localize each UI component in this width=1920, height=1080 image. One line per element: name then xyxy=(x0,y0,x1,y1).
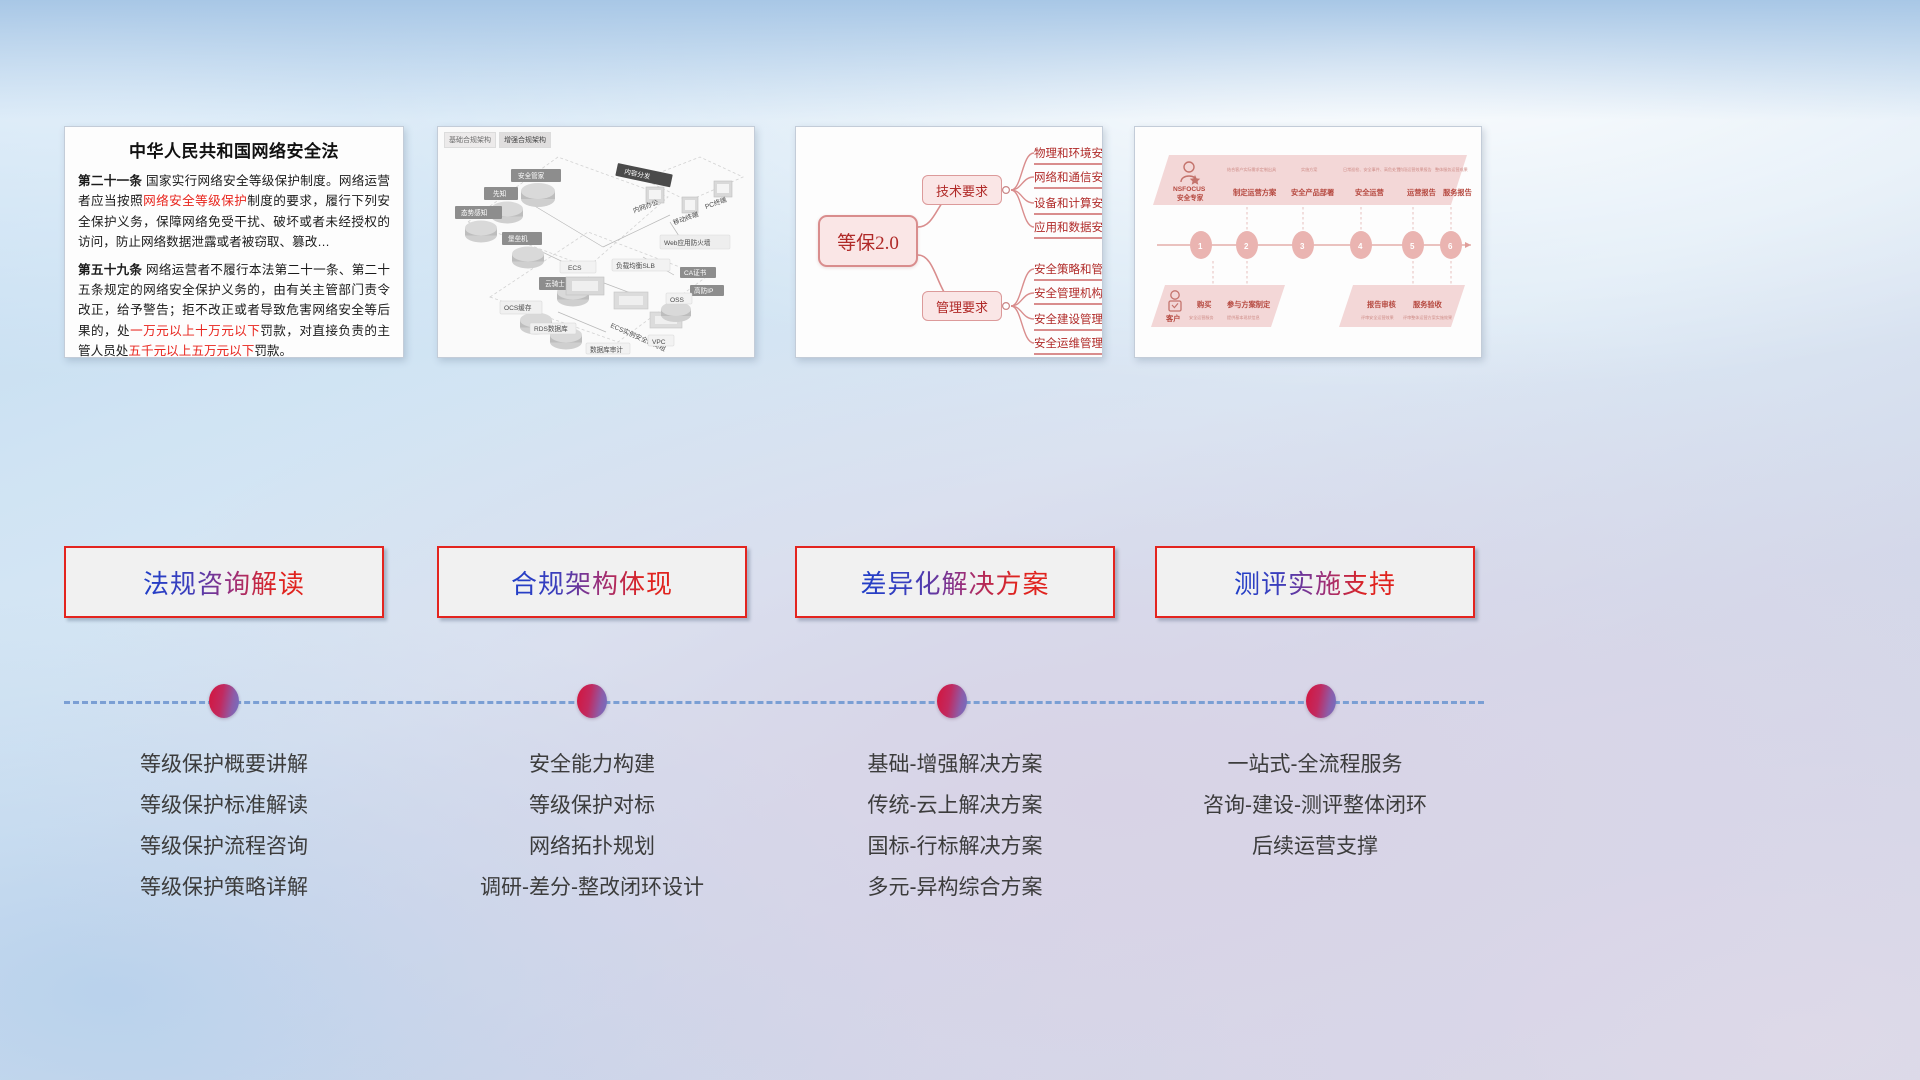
mindmap-leaf-physical-env: 物理和环境安全 xyxy=(1034,145,1103,165)
svg-text:安全管家: 安全管家 xyxy=(518,171,545,180)
bottom-right-step-2-sub: 评审整体运营方案实施效果 xyxy=(1403,314,1452,320)
top-step-4-sub: 阶段运营效果报告 xyxy=(1399,166,1432,172)
node-oss: OSS xyxy=(661,293,692,322)
node-situational-awareness: 态势感知 xyxy=(455,206,502,243)
list-item: 调研-差分-整改闭环设计 xyxy=(437,867,747,908)
card-compliance-architecture[interactable]: 基础合规架构 增强合规架构 内容分发 xyxy=(437,126,755,358)
svg-text:OCS缓存: OCS缓存 xyxy=(504,303,532,312)
article-59-highlight-b: 五千元以上五万元以下 xyxy=(128,344,254,358)
mindmap: 等保2.0 技术要求 管理要求 物理和环境安全 网络和通信安全 设备和计算安全 … xyxy=(796,127,1102,357)
svg-text:云骑士: 云骑士 xyxy=(545,279,565,288)
top-step-3-sub: 日常巡检、安全事件、高危处置 xyxy=(1343,166,1400,172)
node-pc-terminal: PC终端 xyxy=(704,181,732,211)
top-step-1-title: 制定运营方案 xyxy=(1233,188,1277,197)
node-bastion-host: 堡垒机 xyxy=(502,232,544,269)
background-top-wash xyxy=(0,0,1920,120)
nsfocus-timeline: NSFOCUS 安全专家 结合客户实际需求定制出具 制定运营方案 实施方案 安全… xyxy=(1135,127,1481,357)
detail-list-differentiated-solution: 基础-增强解决方案 传统-云上解决方案 国标-行标解决方案 多元-异构综合方案 xyxy=(795,744,1115,909)
svg-text:态势感知: 态势感知 xyxy=(461,208,487,217)
top-step-2-sub: 实施方案 xyxy=(1301,166,1317,172)
svg-text:ECS: ECS xyxy=(568,265,582,272)
list-item: 传统-云上解决方案 xyxy=(795,785,1115,826)
timeline-connector xyxy=(64,684,1484,720)
list-item: 等级保护标准解读 xyxy=(64,785,384,826)
card-nsfocus-service-timeline[interactable]: NSFOCUS 安全专家 结合客户实际需求定制出具 制定运营方案 实施方案 安全… xyxy=(1134,126,1482,358)
list-item: 咨询-建设-测评整体闭环 xyxy=(1155,785,1475,826)
article-59-text-c: 罚款。 xyxy=(254,344,292,358)
list-item: 国标-行标解决方案 xyxy=(795,826,1115,867)
timeline-dot-4[interactable] xyxy=(1306,684,1336,718)
mindmap-branch-technical[interactable]: 技术要求 xyxy=(922,175,1002,205)
list-item: 等级保护概要讲解 xyxy=(64,744,384,785)
headline-box-regulation-consulting[interactable]: 法规咨询解读 xyxy=(64,546,384,618)
svg-text:RDS数据库: RDS数据库 xyxy=(534,324,568,333)
svg-text:1: 1 xyxy=(1198,242,1203,251)
customer-label: 客户 xyxy=(1165,314,1180,323)
list-item: 多元-异构综合方案 xyxy=(795,867,1115,908)
mindmap-branch-management[interactable]: 管理要求 xyxy=(922,291,1002,321)
detail-list-regulation-consulting: 等级保护概要讲解 等级保护标准解读 等级保护流程咨询 等级保护策略详解 xyxy=(64,744,384,909)
node-anti-ddos-ip: 高防IP xyxy=(690,285,724,296)
node-vpc: VPC xyxy=(648,335,674,346)
svg-text:3: 3 xyxy=(1300,242,1305,251)
bottom-left-step-2-title: 参与方案制定 xyxy=(1226,300,1271,309)
law-content: 中华人民共和国网络安全法 第二十一条 国家实行网络安全等级保护制度。网络运营者应… xyxy=(65,127,403,358)
node-ca-certificate: CA证书 xyxy=(680,267,716,278)
svg-text:6: 6 xyxy=(1448,242,1453,251)
nsfocus-brand-line1: NSFOCUS xyxy=(1173,186,1206,193)
svg-text:Web应用防火墙: Web应用防火墙 xyxy=(664,238,711,247)
svg-text:5: 5 xyxy=(1410,242,1415,251)
list-item: 安全能力构建 xyxy=(437,744,747,785)
mindmap-leaf-security-ops: 安全运维管理 xyxy=(1034,335,1103,355)
timeline-dot-1[interactable] xyxy=(209,684,239,718)
timeline-dashed-line xyxy=(64,701,1484,704)
timeline-dot-2[interactable] xyxy=(577,684,607,718)
detail-list-assessment-support: 一站式-全流程服务 咨询-建设-测评整体闭环 后续运营支撑 xyxy=(1155,744,1475,867)
mindmap-leaf-network-comm: 网络和通信安全 xyxy=(1034,169,1103,189)
law-article-59: 第五十九条 网络运营者不履行本法第二十一条、第二十五条规定的网络安全保护义务的，… xyxy=(78,260,390,358)
bottom-right-step-1-title: 报告审核 xyxy=(1367,300,1397,309)
architecture-svg: 内容分发 安全管家 先知 xyxy=(438,127,755,358)
svg-text:先知: 先知 xyxy=(493,189,506,198)
list-item: 后续运营支撑 xyxy=(1155,826,1475,867)
svg-text:VPC: VPC xyxy=(652,339,666,346)
svg-text:2: 2 xyxy=(1244,242,1249,251)
article-59-highlight-a: 一万元以上十万元以下 xyxy=(130,324,260,338)
detail-lists-row: 等级保护概要讲解 等级保护标准解读 等级保护流程咨询 等级保护策略详解 安全能力… xyxy=(0,744,1920,994)
top-step-5-title: 服务报告 xyxy=(1443,188,1472,197)
top-step-4-title: 运营报告 xyxy=(1407,188,1436,197)
timeline-dot-3[interactable] xyxy=(937,684,967,718)
node-database-audit: 数据库审计 xyxy=(586,343,630,354)
headline-label-4: 测评实施支持 xyxy=(1234,564,1396,601)
svg-text:堡垒机: 堡垒机 xyxy=(508,234,528,243)
architecture-diagram: 基础合规架构 增强合规架构 内容分发 xyxy=(438,127,754,357)
list-item: 等级保护对标 xyxy=(437,785,747,826)
card-row: 中华人民共和国网络安全法 第二十一条 国家实行网络安全等级保护制度。网络运营者应… xyxy=(0,126,1920,362)
bottom-left-step-2-sub: 提供基本现状信息 xyxy=(1227,314,1260,320)
node-ecs: ECS xyxy=(560,261,604,295)
list-item: 网络拓扑规划 xyxy=(437,826,747,867)
node-web-application-firewall: Web应用防火墙 xyxy=(660,235,730,249)
bottom-left-step-1-sub: 安全运营服务 xyxy=(1189,314,1214,320)
node-rds-database: RDS数据库 xyxy=(530,323,582,350)
list-item: 等级保护策略详解 xyxy=(64,867,384,908)
bottom-right-step-1-sub: 评审安全运营效果 xyxy=(1361,314,1394,320)
headline-label-1: 法规咨询解读 xyxy=(143,564,305,601)
svg-text:OSS: OSS xyxy=(670,297,685,304)
list-item: 一站式-全流程服务 xyxy=(1155,744,1475,785)
list-item: 基础-增强解决方案 xyxy=(795,744,1115,785)
mindmap-leaf-security-policy: 安全策略和管理制度 xyxy=(1034,261,1103,281)
svg-text:负载均衡SLB: 负载均衡SLB xyxy=(616,261,655,270)
headline-label-2: 合规架构体现 xyxy=(511,564,673,601)
node-mobile-terminal: 移动终端 xyxy=(672,197,700,227)
headline-box-assessment-support[interactable]: 测评实施支持 xyxy=(1155,546,1475,618)
law-article-21: 第二十一条 国家实行网络安全等级保护制度。网络运营者应当按照网络安全等级保护制度… xyxy=(78,171,390,253)
list-item: 等级保护流程咨询 xyxy=(64,826,384,867)
mindmap-leaf-device-compute: 设备和计算安全 xyxy=(1034,195,1103,215)
headline-label-3: 差异化解决方案 xyxy=(860,564,1049,601)
mindmap-leaf-app-data: 应用和数据安全 xyxy=(1034,219,1103,239)
headline-row: 法规咨询解读 合规架构体现 差异化解决方案 测评实施支持 xyxy=(0,546,1920,622)
node-intranet-office: 内网办公 xyxy=(632,187,664,215)
nsfocus-brand-line2: 安全专家 xyxy=(1177,193,1204,202)
article-21-highlight: 网络安全等级保护 xyxy=(143,194,247,208)
top-step-3-title: 安全运营 xyxy=(1355,188,1384,197)
bottom-right-step-2-title: 服务验收 xyxy=(1413,300,1443,309)
svg-text:4: 4 xyxy=(1358,242,1363,251)
svg-text:数据库审计: 数据库审计 xyxy=(590,345,623,354)
mindmap-leaf-security-org: 安全管理机构和人员 xyxy=(1034,285,1103,305)
top-step-5-sub: 整体服务运营成果 xyxy=(1435,166,1468,172)
headline-box-compliance-architecture[interactable]: 合规架构体现 xyxy=(437,546,747,618)
law-title: 中华人民共和国网络安全法 xyxy=(78,137,390,162)
nsfocus-timeline-svg: NSFOCUS 安全专家 结合客户实际需求定制出具 制定运营方案 实施方案 安全… xyxy=(1135,127,1482,358)
top-step-1-sub: 结合客户实际需求定制出具 xyxy=(1227,166,1276,172)
headline-box-differentiated-solution[interactable]: 差异化解决方案 xyxy=(795,546,1115,618)
card-mindmap-dengbao[interactable]: 等保2.0 技术要求 管理要求 物理和环境安全 网络和通信安全 设备和计算安全 … xyxy=(795,126,1103,358)
bottom-left-step-1-title: 购买 xyxy=(1197,300,1211,309)
node-load-balancer: 负载均衡SLB xyxy=(612,259,670,271)
svg-text:高防IP: 高防IP xyxy=(694,286,714,295)
svg-text:CA证书: CA证书 xyxy=(684,268,707,277)
detail-list-compliance-architecture: 安全能力构建 等级保护对标 网络拓扑规划 调研-差分-整改闭环设计 xyxy=(437,744,747,909)
card-cybersecurity-law[interactable]: 中华人民共和国网络安全法 第二十一条 国家实行网络安全等级保护制度。网络运营者应… xyxy=(64,126,404,358)
article-59-label: 第五十九条 xyxy=(78,263,142,277)
node-security-steward: 安全管家 xyxy=(511,169,561,207)
top-step-2-title: 安全产品部署 xyxy=(1291,188,1334,197)
article-21-label: 第二十一条 xyxy=(78,174,142,188)
mindmap-leaf-security-build: 安全建设管理 xyxy=(1034,311,1103,331)
mindmap-root-node[interactable]: 等保2.0 xyxy=(818,215,918,267)
